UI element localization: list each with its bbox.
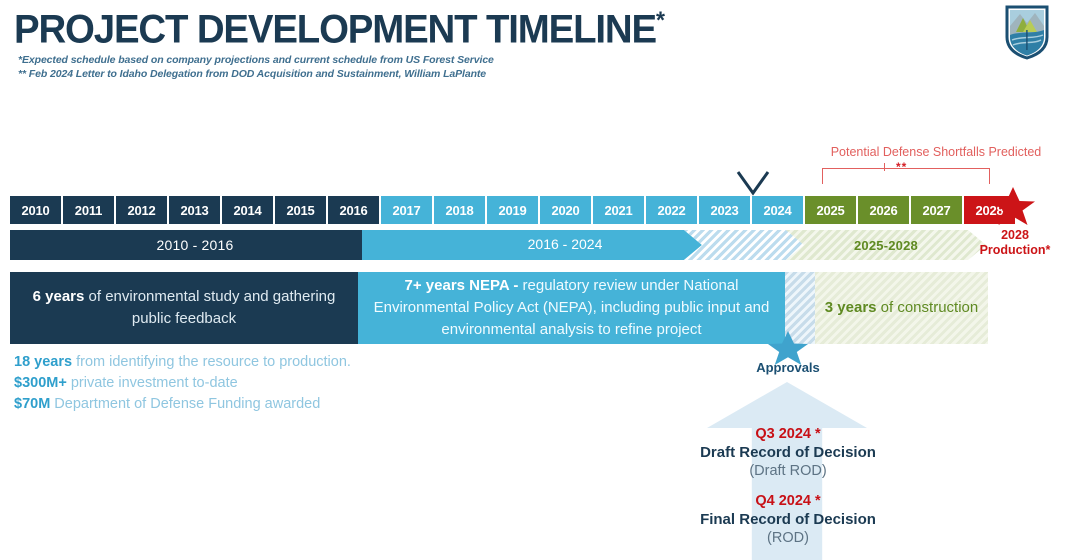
year-cell-2024[interactable]: 2024	[752, 196, 803, 224]
phase-navy-lead: 6 years	[33, 288, 85, 305]
milestone-title: Final Record of Decision	[588, 510, 988, 529]
phase-description-green: 3 years of construction	[815, 272, 988, 344]
phase-green-rest: of construction	[877, 299, 979, 316]
year-cell-2019[interactable]: 2019	[487, 196, 538, 224]
year-cell-2018[interactable]: 2018	[434, 196, 485, 224]
year-cell-2011[interactable]: 2011	[63, 196, 114, 224]
page-title-superscript: *	[656, 7, 664, 34]
milestone-draft-rod: Q3 2024 * Draft Record of Decision (Draf…	[588, 425, 988, 481]
milestone-subtitle: (Draft ROD)	[588, 462, 988, 481]
shield-mountain-logo	[1004, 4, 1050, 60]
stat-value: 18 years	[14, 354, 72, 370]
year-cell-2025[interactable]: 2025	[805, 196, 856, 224]
footnote-two: ** Feb 2024 Letter to Idaho Delegation f…	[18, 68, 486, 80]
phase-arrow-cyan-label: 2016 - 2024	[470, 236, 660, 252]
stat-value: $70M	[14, 396, 50, 412]
production-star-icon	[987, 186, 1039, 226]
stats-list: 18 years from identifying the resource t…	[14, 352, 534, 415]
stat-text: private investment to-date	[67, 375, 238, 391]
year-cell-2020[interactable]: 2020	[540, 196, 591, 224]
phase-description-cyan: 7+ years NEPA - regulatory review under …	[358, 272, 785, 344]
current-year-marker-icon	[736, 170, 770, 196]
production-label: 2028 Production*	[962, 228, 1068, 258]
phase-green-lead: 3 years	[825, 299, 877, 316]
year-cell-2010[interactable]: 2010	[10, 196, 61, 224]
year-cell-2012[interactable]: 2012	[116, 196, 167, 224]
phase-arrow-navy: 2010 - 2016	[10, 230, 380, 260]
milestone-final-rod: Q4 2024 * Final Record of Decision (ROD)	[588, 492, 988, 548]
year-row: 2010201120122013201420152016201720182019…	[10, 196, 1015, 224]
year-cell-2017[interactable]: 2017	[381, 196, 432, 224]
milestone-quarter: Q4 2024 *	[588, 492, 988, 510]
shortfall-footnote-marker: **	[896, 160, 907, 174]
stat-line: $300M+ private investment to-date	[14, 373, 534, 394]
year-cell-2015[interactable]: 2015	[275, 196, 326, 224]
phase-description-navy: 6 years of environmental study and gathe…	[10, 272, 358, 344]
page-title: PROJECT DEVELOPMENT TIMELINE*	[14, 0, 664, 52]
stat-text: Department of Defense Funding awarded	[50, 396, 320, 412]
stat-line: $70M Department of Defense Funding award…	[14, 394, 534, 415]
timeline-slide: PROJECT DEVELOPMENT TIMELINE* *Expected …	[0, 0, 1080, 560]
phase-arrow-transition	[684, 230, 804, 260]
phase-navy-rest: of environmental study and gathering pub…	[84, 288, 335, 327]
shortfall-bracket-tick	[884, 163, 885, 171]
stat-text: from identifying the resource to product…	[72, 354, 351, 370]
year-cell-2026[interactable]: 2026	[858, 196, 909, 224]
stat-value: $300M+	[14, 375, 67, 391]
year-cell-2014[interactable]: 2014	[222, 196, 273, 224]
phase-arrow-green: 2025-2028	[786, 230, 986, 260]
production-text: Production*	[980, 243, 1051, 257]
shortfall-annotation-label: Potential Defense Shortfalls Predicted	[816, 145, 1056, 159]
milestone-subtitle: (ROD)	[588, 529, 988, 548]
year-cell-2023[interactable]: 2023	[699, 196, 750, 224]
year-cell-2021[interactable]: 2021	[593, 196, 644, 224]
milestone-quarter: Q3 2024 *	[588, 425, 988, 443]
footnote-one: *Expected schedule based on company proj…	[18, 54, 494, 66]
phase-cyan-lead: 7+ years NEPA -	[405, 277, 523, 294]
approvals-label: Approvals	[726, 360, 850, 375]
stat-line: 18 years from identifying the resource t…	[14, 352, 534, 373]
year-cell-2027[interactable]: 2027	[911, 196, 962, 224]
year-cell-2016[interactable]: 2016	[328, 196, 379, 224]
year-cell-2022[interactable]: 2022	[646, 196, 697, 224]
page-title-text: PROJECT DEVELOPMENT TIMELINE	[14, 7, 656, 51]
year-cell-2013[interactable]: 2013	[169, 196, 220, 224]
milestone-title: Draft Record of Decision	[588, 443, 988, 462]
production-year: 2028	[1001, 228, 1029, 242]
phase-description-row: 6 years of environmental study and gathe…	[10, 272, 988, 344]
